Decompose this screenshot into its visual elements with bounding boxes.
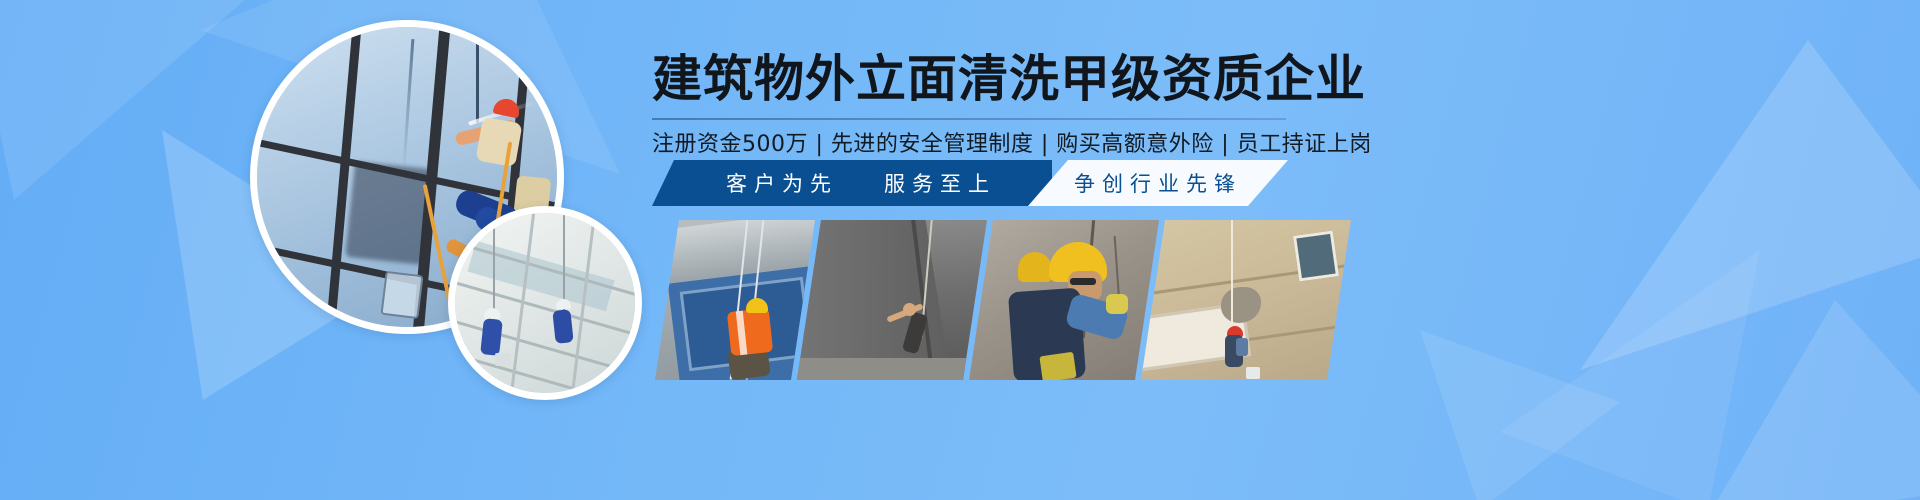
subtitle-features: 注册资金500万 | 先进的安全管理制度 | 购买高额意外险 | 员工持证上岗 <box>652 126 1286 158</box>
photo-apartment-facade-worker <box>1141 220 1351 380</box>
slogan-tag-secondary: 争创行业先锋 <box>1028 160 1288 206</box>
strip-photo-3 <box>969 220 1159 380</box>
worker-body <box>552 309 573 344</box>
worker-torso <box>475 117 522 167</box>
slogan-tag-bar: 客户为先 服务至上 争创行业先锋 <box>652 160 1288 206</box>
worker-safety-vest <box>726 308 772 356</box>
worker-harness <box>1236 338 1248 356</box>
photo-wall-repair-worker <box>969 220 1159 380</box>
photo-concrete-wall-rappel <box>797 220 987 380</box>
wall-patch <box>1221 287 1261 323</box>
slogan-service-supreme: 服务至上 <box>884 168 996 198</box>
strip-photo-2 <box>797 220 987 380</box>
slogan-customer-first: 客户为先 <box>726 168 838 198</box>
slogan-industry-pioneer: 争创行业先锋 <box>1074 168 1242 198</box>
title-divider <box>652 118 1286 120</box>
worker-bucket <box>1246 367 1260 379</box>
strip-photo-4 <box>1141 220 1351 380</box>
worker-helmet <box>1018 252 1052 282</box>
slogan-tag-primary: 客户为先 服务至上 <box>652 160 1052 206</box>
safety-glasses <box>1070 278 1096 285</box>
photo-strip <box>655 220 1355 380</box>
page-title: 建筑物外立面清洗甲级资质企业 <box>652 52 1366 106</box>
worker-helmet <box>556 299 571 309</box>
worker-body <box>480 318 503 356</box>
circle-photo-secondary <box>448 206 642 400</box>
worker-glove <box>1106 294 1128 314</box>
window <box>1293 230 1339 281</box>
triangle-shape-icon <box>1420 330 1620 500</box>
triangle-shape-icon <box>1580 40 1920 370</box>
safety-line <box>476 20 479 123</box>
worker-helmet <box>484 308 500 319</box>
descent-rope <box>1231 220 1233 338</box>
plaster-tool <box>1040 352 1077 380</box>
photo-white-facade-workers <box>455 213 635 393</box>
promo-banner: 建筑物外立面清洗甲级资质企业 注册资金500万 | 先进的安全管理制度 | 购买… <box>0 0 1920 500</box>
photo-scaffold-worker <box>655 220 815 380</box>
strip-photo-1 <box>655 220 815 380</box>
light-fixture <box>380 271 423 319</box>
ground <box>797 358 987 380</box>
worker-bucket <box>495 353 511 366</box>
worker-helmet <box>746 298 768 313</box>
